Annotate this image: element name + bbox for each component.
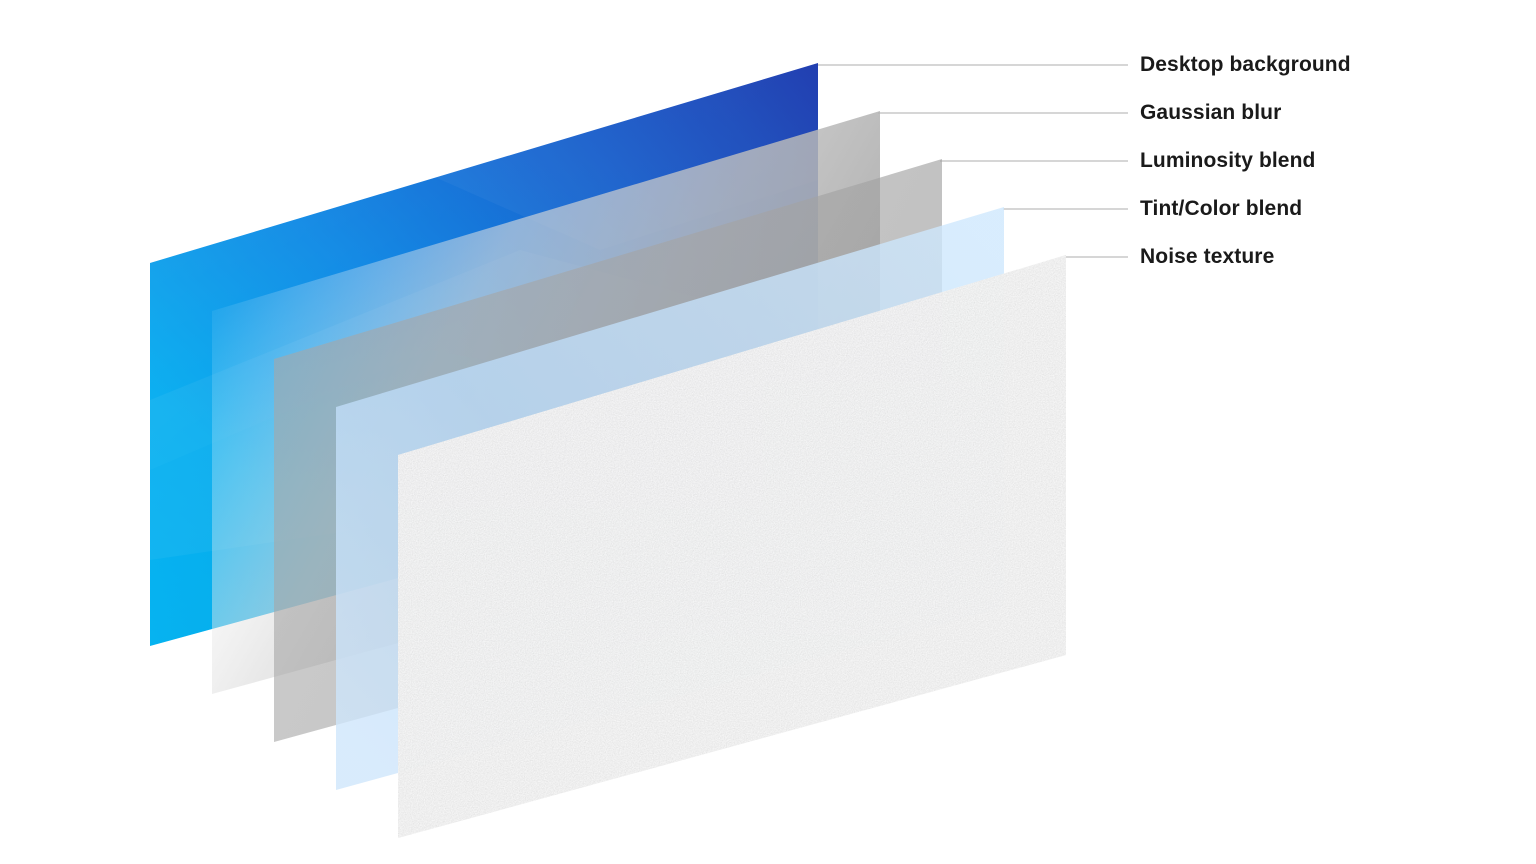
label-desktop-background: Desktop background	[1140, 54, 1351, 75]
label-noise-texture: Noise texture	[1140, 246, 1274, 267]
label-luminosity-blend: Luminosity blend	[1140, 150, 1315, 171]
layer-stack-diagram	[0, 0, 1536, 864]
label-gaussian-blur: Gaussian blur	[1140, 102, 1281, 123]
layer-stack-canvas	[0, 0, 1536, 864]
label-tint-color-blend: Tint/Color blend	[1140, 198, 1302, 219]
